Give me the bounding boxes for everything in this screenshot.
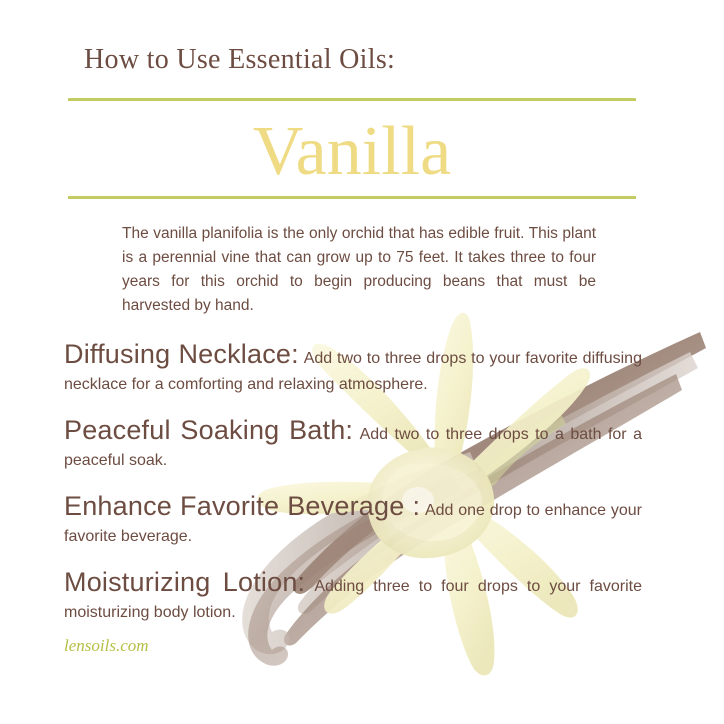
page-kicker: How to Use Essential Oils: bbox=[84, 44, 395, 76]
use-item: Moisturizing Lotion: Adding three to fou… bbox=[64, 564, 642, 626]
use-title: Peaceful Soaking Bath: bbox=[64, 415, 353, 445]
intro-paragraph: The vanilla planifolia is the only orchi… bbox=[122, 222, 596, 318]
use-title: Moisturizing Lotion: bbox=[64, 567, 305, 597]
page-title: Vanilla bbox=[68, 112, 636, 192]
divider-top bbox=[68, 98, 636, 101]
uses-list: Diffusing Necklace: Add two to three dro… bbox=[64, 336, 642, 640]
use-item: Peaceful Soaking Bath: Add two to three … bbox=[64, 412, 642, 474]
divider-bottom bbox=[68, 196, 636, 199]
use-item: Enhance Favorite Beverage : Add one drop… bbox=[64, 488, 642, 550]
infographic-page: How to Use Essential Oils: Vanilla The v… bbox=[0, 0, 724, 724]
use-title: Enhance Favorite Beverage : bbox=[64, 491, 420, 521]
site-credit[interactable]: lensoils.com bbox=[64, 636, 149, 656]
use-title: Diffusing Necklace: bbox=[64, 339, 299, 369]
content-layer: How to Use Essential Oils: Vanilla The v… bbox=[0, 0, 724, 724]
use-item: Diffusing Necklace: Add two to three dro… bbox=[64, 336, 642, 398]
